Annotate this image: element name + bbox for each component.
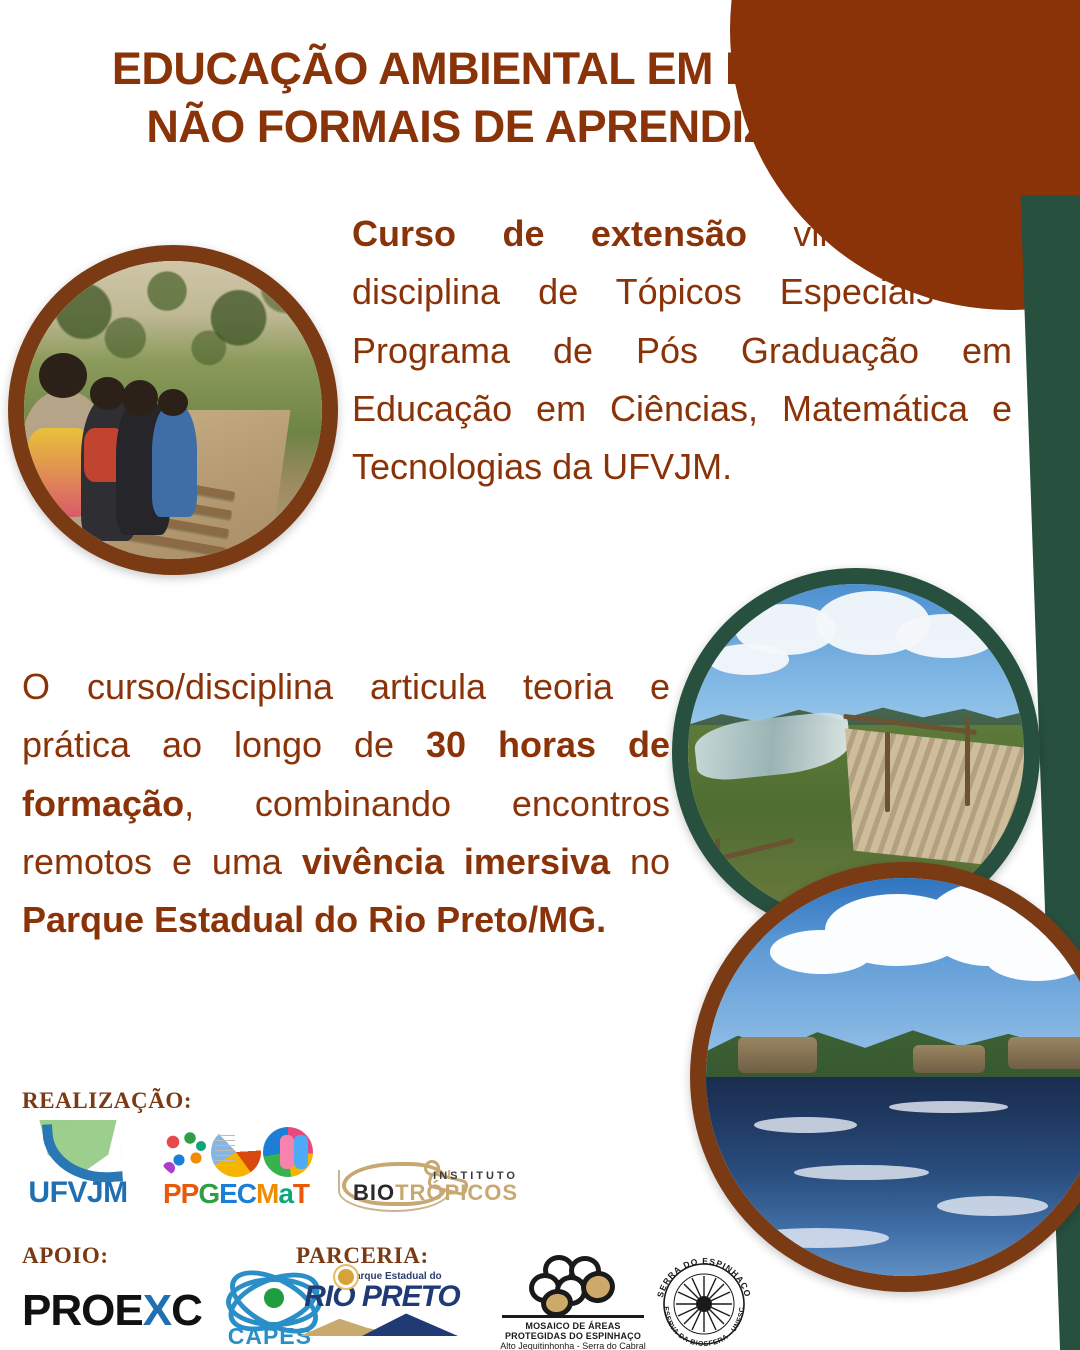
ppgecmat-logo-text: PPGECMaT	[156, 1180, 316, 1208]
realizacao-block: REALIZAÇÃO: UFVJM PPGECMaT	[22, 1088, 582, 1208]
ppg-letter-5: T	[293, 1178, 309, 1209]
mosaico-cells-icon	[525, 1255, 621, 1311]
paragraph-2-part-3: no	[610, 841, 670, 882]
ppgecmat-circles-icon	[156, 1127, 316, 1177]
photo-hikers-on-trail	[8, 245, 338, 575]
rio-preto-name: RIO PRETO	[296, 1282, 468, 1312]
serra-do-espinhaco-biosfera-seal: SERRA DO ESPINHAÇO RESERVA DA BIOSFERA -…	[650, 1250, 758, 1350]
poster-root: EDUCAÇÃO AMBIENTAL EM ESPAÇOS NÃO FORMAI…	[0, 0, 1080, 1350]
biotropicos-name: BIOTRÓPICOS	[353, 1182, 518, 1204]
ufvjm-leaf-icon	[36, 1120, 120, 1176]
mosaico-line-2: Alto Jequitinhonha - Serra do Cabral	[498, 1341, 648, 1350]
biosphere-seal-icon: SERRA DO ESPINHAÇO RESERVA DA BIOSFERA -…	[650, 1250, 758, 1350]
ppg-letter-0: PP	[163, 1178, 198, 1209]
mountain-icon	[296, 1310, 468, 1336]
hikers-illustration	[24, 261, 322, 559]
paragraph-1-rest: vinculado a disciplina de Tópicos Especi…	[352, 213, 1012, 487]
photo-hikers-inner	[24, 261, 322, 559]
ppgecmat-logo: PPGECMaT	[156, 1127, 316, 1208]
page-title: EDUCAÇÃO AMBIENTAL EM ESPAÇOS NÃO FORMAI…	[40, 40, 1010, 155]
biotropicos-tropicos: TRÓPICOS	[395, 1180, 518, 1205]
title-line-1: EDUCAÇÃO AMBIENTAL EM ESPAÇOS	[40, 40, 1010, 98]
sun-icon	[338, 1269, 354, 1285]
apoio-block: APOIO: PROEXC CAPES	[22, 1243, 312, 1350]
ufvjm-logo: UFVJM	[22, 1120, 134, 1208]
proexc-x: X	[143, 1286, 171, 1335]
proexc-logo: PROEXC	[22, 1286, 202, 1336]
paragraph-course-hours: O curso/disciplina articula teoria e prá…	[22, 658, 670, 950]
mosaico-espinhaco-logo: MOSAICO DE ÁREAS PROTEGIDAS DO ESPINHAÇO…	[498, 1255, 648, 1350]
ppg-letter-4: a	[278, 1178, 293, 1209]
apoio-logo-row: PROEXC CAPES	[22, 1271, 312, 1350]
biotropicos-text: INSTITUTO BIOTRÓPICOS	[353, 1171, 518, 1204]
ppg-letter-1: G	[198, 1178, 219, 1209]
ppg-letter-2: EC	[219, 1178, 256, 1209]
photo-river-inner	[706, 878, 1080, 1276]
parceria-block: PARCERIA: Parque Estadual do RIO PRETO	[296, 1243, 496, 1336]
paragraph-1-bold-lead: Curso de extensão	[352, 213, 747, 254]
proexc-pre: PROE	[22, 1286, 143, 1335]
paragraph-2-bold-immersive: vivência imersiva	[302, 841, 610, 882]
river-illustration	[706, 878, 1080, 1276]
realizacao-logo-row: UFVJM PPGECMaT INSTITUTO	[22, 1120, 582, 1208]
ppg-letter-3: M	[256, 1178, 278, 1209]
title-line-2: NÃO FORMAIS DE APRENDIZAGEM	[40, 98, 1010, 156]
paragraph-course-description: Curso de extensão vinculado a disciplina…	[352, 205, 1012, 497]
parceria-logo-row: Parque Estadual do RIO PRETO	[296, 1271, 496, 1336]
ufvjm-logo-text: UFVJM	[22, 1178, 134, 1208]
photo-river-landscape	[690, 862, 1080, 1292]
mosaico-divider	[502, 1315, 644, 1318]
proexc-post: C	[171, 1286, 202, 1335]
biotropicos-bio: BIO	[353, 1180, 395, 1205]
apoio-label: APOIO:	[22, 1243, 312, 1269]
paragraph-2-bold-park: Parque Estadual do Rio Preto/MG.	[22, 899, 606, 940]
rio-preto-logo: Parque Estadual do RIO PRETO	[296, 1271, 468, 1336]
parceria-label: PARCERIA:	[296, 1243, 496, 1269]
mosaico-line-1: MOSAICO DE ÁREAS PROTEGIDAS DO ESPINHAÇO	[498, 1321, 648, 1341]
realizacao-label: REALIZAÇÃO:	[22, 1088, 582, 1114]
biotropicos-logo: INSTITUTO BIOTRÓPICOS	[338, 1156, 518, 1208]
